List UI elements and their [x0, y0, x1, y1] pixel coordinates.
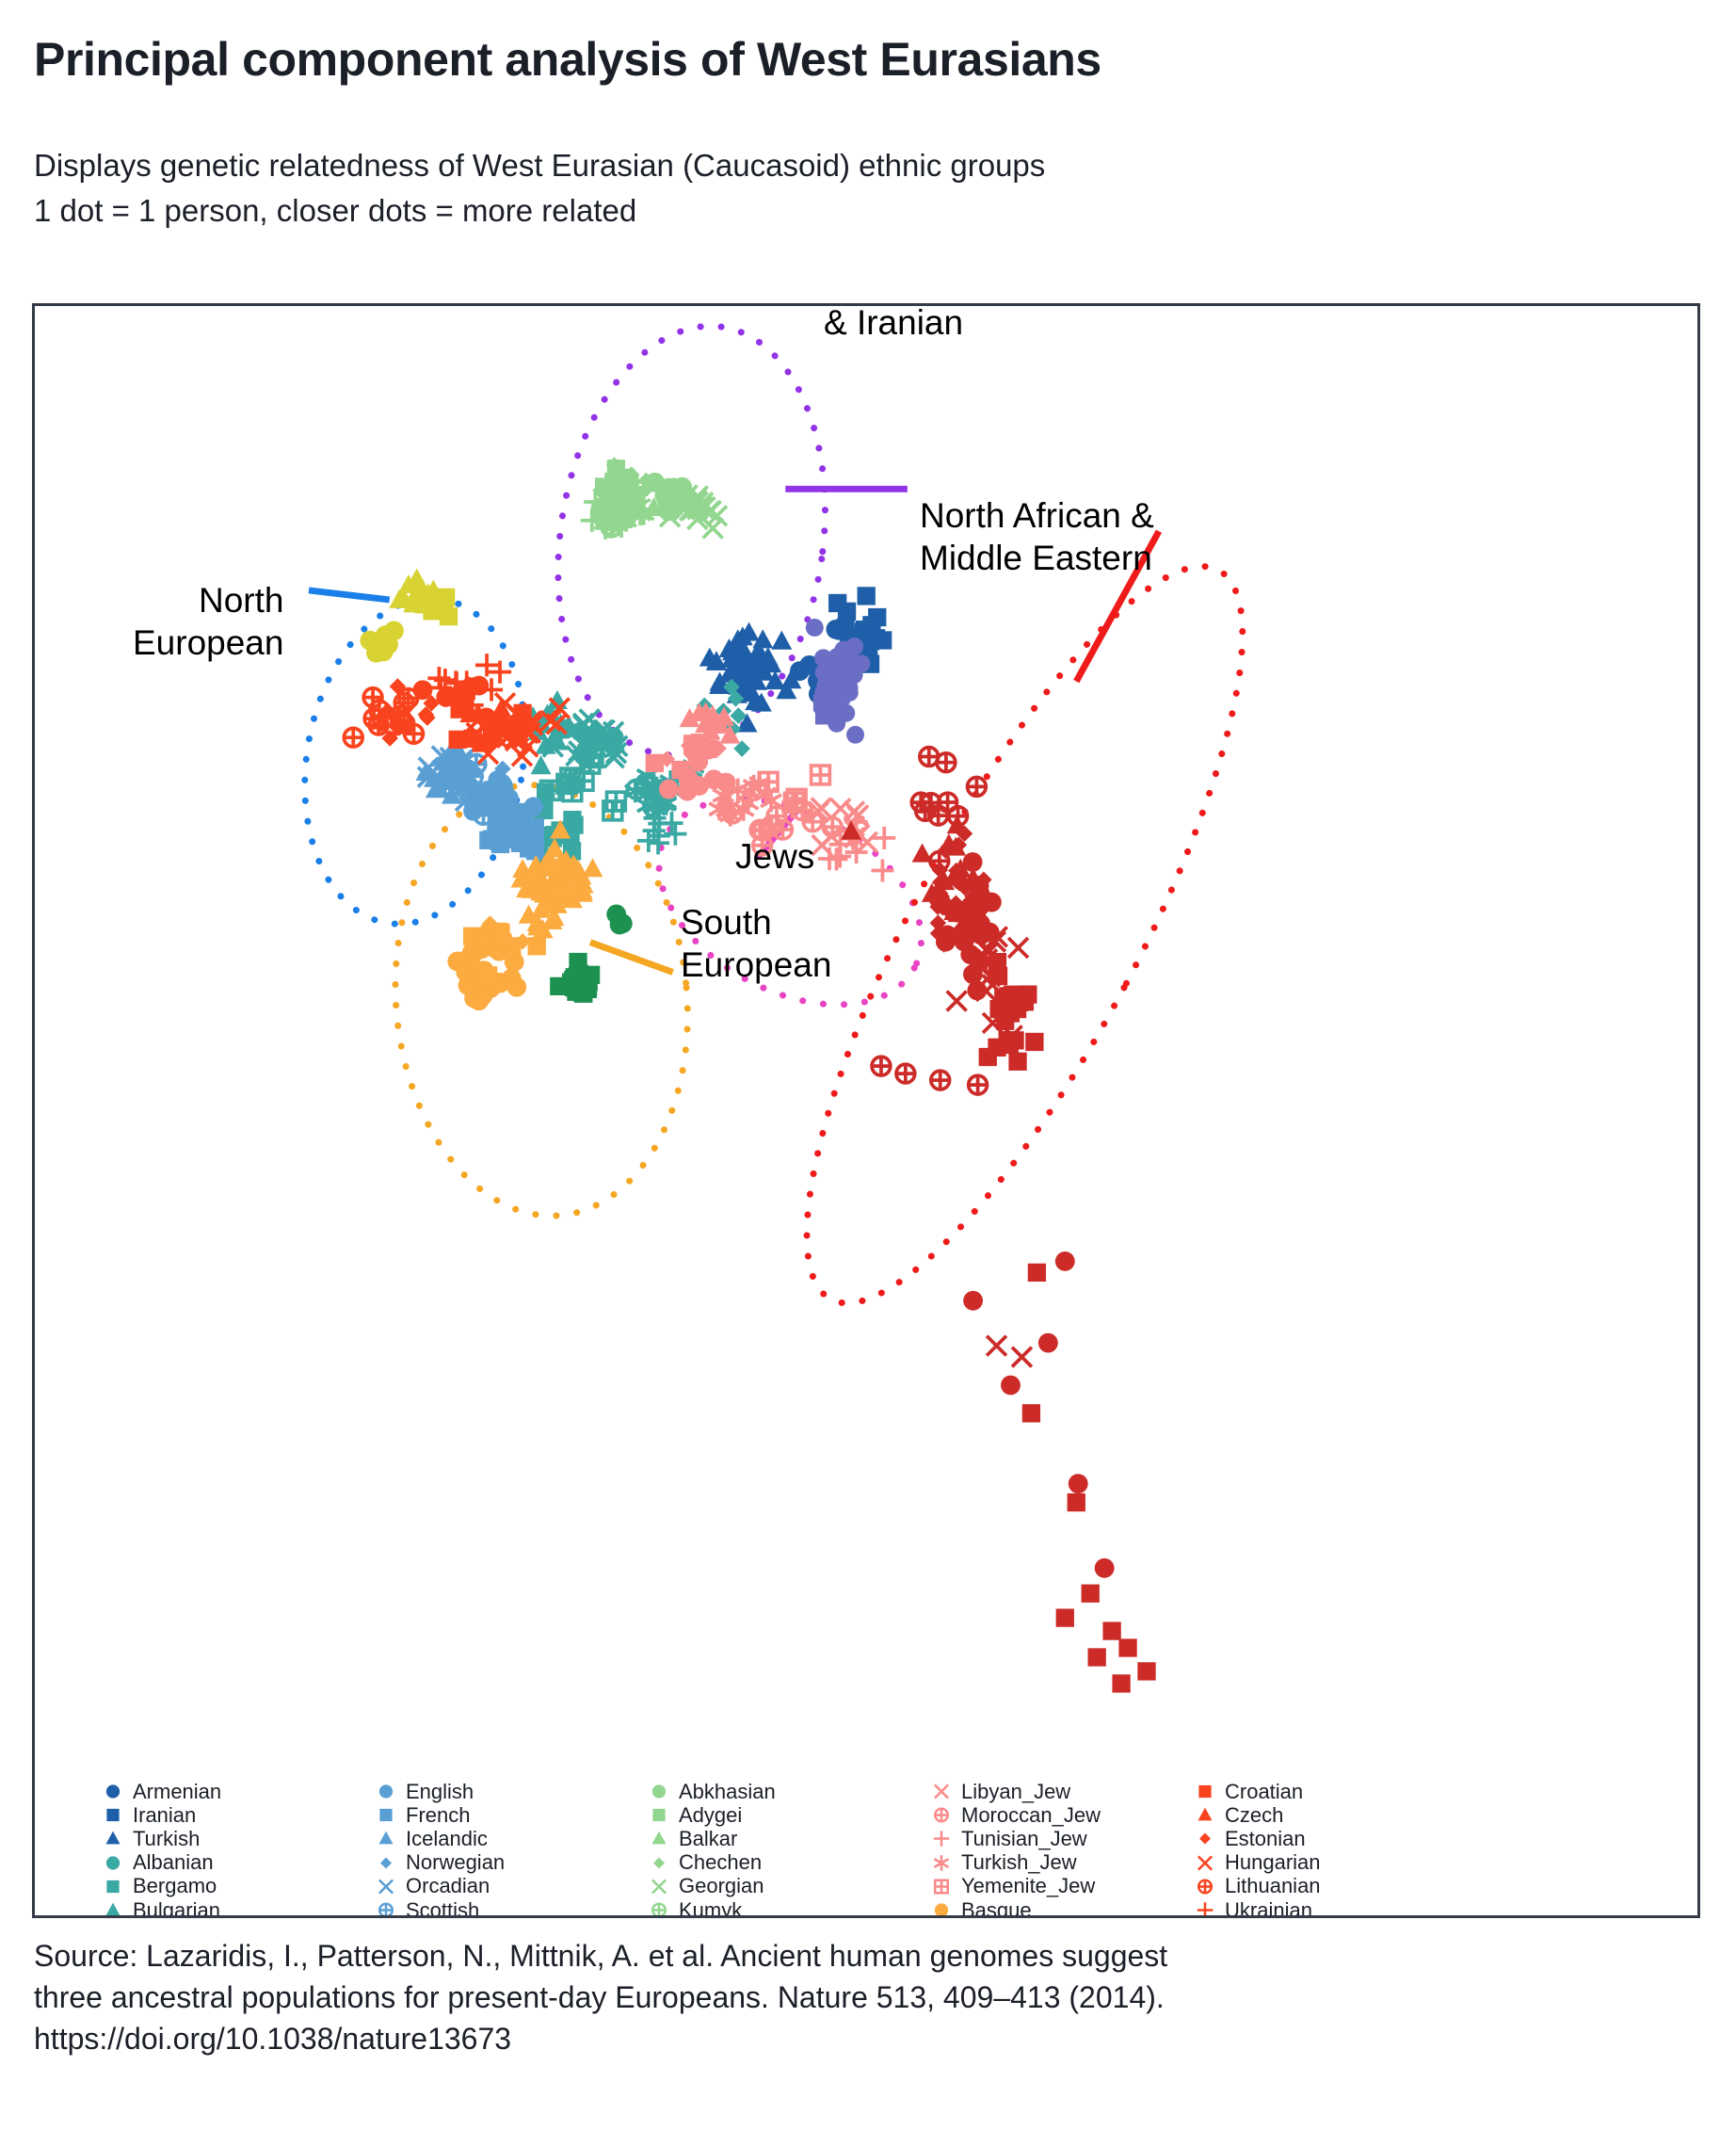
diamond-marker-icon	[372, 1851, 400, 1875]
legend-item-label: Abkhasian	[673, 1780, 776, 1804]
data-point	[930, 851, 949, 870]
legend-item[interactable]: Bulgarian	[99, 1898, 372, 1918]
data-point	[364, 709, 383, 728]
legend-item-label: Bergamo	[127, 1874, 217, 1898]
legend-item[interactable]: Chechen	[645, 1851, 927, 1875]
legend-item[interactable]: Croatian	[1191, 1780, 1473, 1803]
legend-item-label: Croatian	[1219, 1780, 1303, 1804]
source-line-1: Source: Lazaridis, I., Patterson, N., Mi…	[34, 1935, 1167, 1977]
annotation-line-2: European	[133, 621, 283, 664]
legend-item[interactable]: Adygei	[645, 1803, 927, 1827]
data-point	[460, 786, 479, 805]
data-point	[654, 486, 674, 506]
annotation-line-1: North	[133, 579, 283, 621]
annotation-line-2: Middle Eastern	[920, 537, 1154, 579]
data-point	[1025, 1033, 1043, 1051]
legend-item-label: Libyan_Jew	[956, 1780, 1070, 1804]
data-point	[873, 827, 895, 849]
legend-item-label: Basque	[956, 1898, 1032, 1918]
circle-marker-icon	[99, 1780, 127, 1803]
legend-column-5: CroatianCzechEstonianHungarianLithuanian…	[1191, 1780, 1473, 1918]
data-point	[833, 687, 850, 704]
subtitle-line-1: Displays genetic relatedness of West Eur…	[34, 143, 1045, 188]
annotation-line-1: North African &	[920, 494, 1154, 537]
legend-column-3: AbkhasianAdygeiBalkarChechenGeorgianKumy…	[645, 1780, 927, 1918]
legend-item[interactable]: Moroccan_Jew	[927, 1803, 1191, 1827]
data-point	[506, 977, 526, 997]
cross-marker-icon	[1191, 1851, 1219, 1875]
triangle-marker-icon	[99, 1898, 127, 1918]
data-point	[931, 1071, 950, 1089]
pca-scatter-plot[interactable]: Caucasus & Iranian North African & Middl…	[32, 303, 1700, 1918]
circleplus-marker-icon	[372, 1898, 400, 1918]
data-point	[838, 603, 856, 621]
legend-item-label: Estonian	[1219, 1827, 1306, 1851]
data-point	[1055, 1251, 1075, 1271]
diamond-marker-icon	[1191, 1827, 1219, 1850]
legend-item[interactable]: English	[372, 1780, 645, 1803]
legend-item-label: English	[400, 1780, 474, 1804]
legend-item-label: Hungarian	[1219, 1850, 1321, 1875]
page-title: Principal component analysis of West Eur…	[34, 32, 1101, 87]
data-point	[858, 587, 876, 605]
legend-item-label: Ukrainian	[1219, 1898, 1312, 1918]
triangle-marker-icon	[1191, 1803, 1219, 1827]
data-point	[378, 635, 398, 654]
data-point	[856, 621, 874, 638]
legend-column-1: ArmenianIranianTurkishAlbanianBergamoBul…	[67, 1780, 372, 1918]
square-marker-icon	[372, 1803, 400, 1827]
data-point	[920, 748, 939, 766]
circleplus-marker-icon	[1191, 1875, 1219, 1898]
data-point	[803, 813, 822, 831]
data-point	[531, 755, 552, 774]
data-point	[815, 708, 832, 725]
legend-item-label: Turkish	[127, 1827, 200, 1851]
data-point	[872, 1057, 891, 1075]
legend-item-label: Turkish_Jew	[956, 1850, 1077, 1875]
legend-item[interactable]: French	[372, 1803, 645, 1827]
data-point	[1028, 1264, 1046, 1282]
legend-item-label: Armenian	[127, 1780, 221, 1804]
data-point	[812, 766, 830, 784]
legend-item[interactable]: Ukrainian	[1191, 1898, 1473, 1918]
data-point	[988, 1039, 1005, 1057]
legend-column-2: EnglishFrenchIcelandicNorwegianOrcadianS…	[372, 1780, 645, 1918]
annotation-south-european: South European	[681, 901, 831, 986]
legend-item[interactable]: Hungarian	[1191, 1851, 1473, 1875]
data-point	[671, 761, 689, 779]
legend-column-4: Libyan_JewMoroccan_JewTunisian_JewTurkis…	[927, 1780, 1191, 1918]
cross-marker-icon	[645, 1875, 673, 1898]
legend-item[interactable]: Estonian	[1191, 1827, 1473, 1850]
data-point	[659, 780, 679, 799]
leader-north-european	[309, 590, 390, 600]
annotation-line-1: South	[681, 901, 831, 944]
legend-item-label: Scottish	[400, 1898, 479, 1918]
source-line-2: three ancestral populations for present-…	[34, 1977, 1167, 2018]
source-citation: Source: Lazaridis, I., Patterson, N., Mi…	[34, 1935, 1167, 2059]
legend-item[interactable]: Scottish	[372, 1898, 645, 1918]
data-point	[1008, 938, 1028, 958]
triangle-marker-icon	[645, 1827, 673, 1850]
annotation-line-1: Jews	[735, 835, 814, 878]
legend-item-label: Icelandic	[400, 1827, 488, 1851]
legend-item[interactable]: Iranian	[99, 1803, 372, 1827]
page-subtitle: Displays genetic relatedness of West Eur…	[34, 143, 1045, 234]
legend-item[interactable]: Icelandic	[372, 1827, 645, 1850]
data-point	[528, 937, 546, 955]
legend-item-label: Norwegian	[400, 1850, 505, 1875]
data-point	[947, 992, 967, 1011]
annotation-caucasus-iranian: Caucasus & Iranian	[824, 303, 979, 344]
legend-item[interactable]: Czech	[1191, 1803, 1473, 1827]
annotation-line-2: European	[681, 944, 831, 986]
data-point	[689, 776, 709, 796]
scatter-canvas	[35, 306, 1697, 1915]
cross-marker-icon	[372, 1875, 400, 1898]
source-line-3: https://doi.org/10.1038/nature13673	[34, 2018, 1167, 2059]
data-point	[1038, 1333, 1058, 1353]
data-point	[949, 807, 968, 826]
data-point	[363, 688, 382, 707]
legend-item[interactable]: Abkhasian	[645, 1780, 927, 1803]
cluster-ellipse	[532, 309, 852, 773]
data-point	[1082, 1585, 1100, 1603]
data-point	[845, 637, 863, 655]
square-marker-icon	[99, 1875, 127, 1898]
legend-item-label: Yemenite_Jew	[956, 1874, 1095, 1898]
triangle-marker-icon	[372, 1827, 400, 1850]
data-points	[344, 457, 1155, 1692]
circle-marker-icon	[645, 1780, 673, 1803]
triangle-marker-icon	[99, 1827, 127, 1850]
circleplus-marker-icon	[927, 1803, 956, 1827]
data-point	[1010, 993, 1028, 1011]
legend-item[interactable]: Armenian	[99, 1780, 372, 1803]
legend-item[interactable]: Turkish	[99, 1827, 372, 1850]
plus-marker-icon	[1191, 1898, 1219, 1918]
legend-item[interactable]: Turkish_Jew	[927, 1851, 1191, 1875]
legend-item-label: Bulgarian	[127, 1898, 220, 1918]
annotation-north-european: North European	[133, 579, 283, 664]
legend-item[interactable]: Orcadian	[372, 1875, 645, 1898]
data-point	[1022, 1404, 1040, 1422]
legend-item[interactable]: Libyan_Jew	[927, 1780, 1191, 1803]
legend-item-label: Albanian	[127, 1850, 214, 1875]
legend-item[interactable]: Basque	[927, 1898, 1191, 1918]
legend-item[interactable]: Georgian	[645, 1875, 927, 1898]
data-point	[836, 619, 854, 637]
data-point	[969, 1075, 988, 1094]
data-point	[1088, 1648, 1106, 1666]
data-point	[479, 966, 497, 984]
data-point	[1102, 1622, 1120, 1639]
legend-item[interactable]: Norwegian	[372, 1851, 645, 1875]
data-point	[968, 778, 987, 797]
data-point	[574, 985, 592, 1003]
circleplus-marker-icon	[645, 1898, 673, 1918]
legend-item[interactable]: Lithuanian	[1191, 1875, 1473, 1898]
data-point	[830, 799, 850, 818]
data-point	[896, 1064, 915, 1083]
data-point	[610, 915, 630, 935]
legend-item-label: French	[400, 1803, 470, 1828]
legend-item[interactable]: Bergamo	[99, 1875, 372, 1898]
legend-item-label: Lithuanian	[1219, 1874, 1321, 1898]
legend-item[interactable]: Yemenite_Jew	[927, 1875, 1191, 1898]
annotation-north-african-middle-eastern: North African & Middle Eastern	[920, 494, 1154, 579]
data-point	[500, 805, 518, 823]
data-point	[1118, 1638, 1136, 1656]
data-point	[871, 859, 893, 881]
data-point	[569, 967, 587, 985]
data-point	[399, 689, 418, 708]
circle-marker-icon	[927, 1898, 956, 1918]
data-point	[827, 652, 844, 669]
legend-item[interactable]: Kumyk	[645, 1898, 927, 1918]
legend-item-label: Tunisian_Jew	[956, 1827, 1087, 1851]
data-point	[395, 714, 414, 733]
data-point	[1095, 1558, 1115, 1578]
legend-item-label: Iranian	[127, 1803, 196, 1828]
data-point	[771, 631, 792, 650]
leader-south-european	[590, 943, 673, 973]
data-point	[1012, 1347, 1032, 1367]
legend-item[interactable]: Albanian	[99, 1851, 372, 1875]
data-point	[1001, 1376, 1021, 1396]
chart-legend: ArmenianIranianTurkishAlbanianBergamoBul…	[67, 1780, 1479, 1918]
legend-item-label: Czech	[1219, 1803, 1283, 1828]
data-point	[916, 801, 935, 820]
square-marker-icon	[645, 1803, 673, 1827]
squaregrid-marker-icon	[927, 1875, 956, 1898]
data-point	[525, 824, 543, 842]
data-point	[1056, 1608, 1074, 1626]
legend-item-label: Orcadian	[400, 1874, 490, 1898]
data-point	[550, 977, 568, 995]
plus-marker-icon	[927, 1827, 956, 1850]
data-point	[1112, 1674, 1130, 1692]
legend-item-label: Adygei	[673, 1803, 742, 1828]
asterisk-marker-icon	[927, 1851, 956, 1875]
annotation-line-2: & Iranian	[824, 303, 979, 344]
square-marker-icon	[99, 1803, 127, 1827]
data-point	[1068, 1493, 1085, 1511]
circle-marker-icon	[99, 1851, 127, 1875]
legend-item-label: Kumyk	[673, 1898, 742, 1918]
annotation-jews: Jews	[735, 835, 814, 878]
legend-item-label: Georgian	[673, 1874, 764, 1898]
square-marker-icon	[1191, 1780, 1219, 1803]
legend-item-label: Balkar	[673, 1827, 737, 1851]
data-point	[828, 845, 851, 867]
data-point	[1008, 1053, 1026, 1071]
legend-item-label: Moroccan_Jew	[956, 1803, 1101, 1828]
data-point	[1069, 1474, 1088, 1493]
cluster-ellipse	[280, 581, 549, 942]
data-point	[846, 726, 864, 744]
cross-marker-icon	[927, 1780, 956, 1803]
data-point	[473, 986, 492, 1006]
data-point	[806, 619, 824, 637]
data-point	[987, 1336, 1006, 1356]
data-point	[1137, 1662, 1155, 1680]
legend-item[interactable]: Tunisian_Jew	[927, 1827, 1191, 1850]
legend-item[interactable]: Balkar	[645, 1827, 927, 1850]
data-point	[344, 728, 362, 747]
circle-marker-icon	[372, 1780, 400, 1803]
data-point	[963, 1291, 983, 1311]
data-point	[463, 767, 482, 786]
subtitle-line-2: 1 dot = 1 person, closer dots = more rel…	[34, 188, 1045, 234]
data-point	[474, 805, 493, 824]
legend-item-label: Chechen	[673, 1850, 762, 1875]
diamond-marker-icon	[645, 1851, 673, 1875]
